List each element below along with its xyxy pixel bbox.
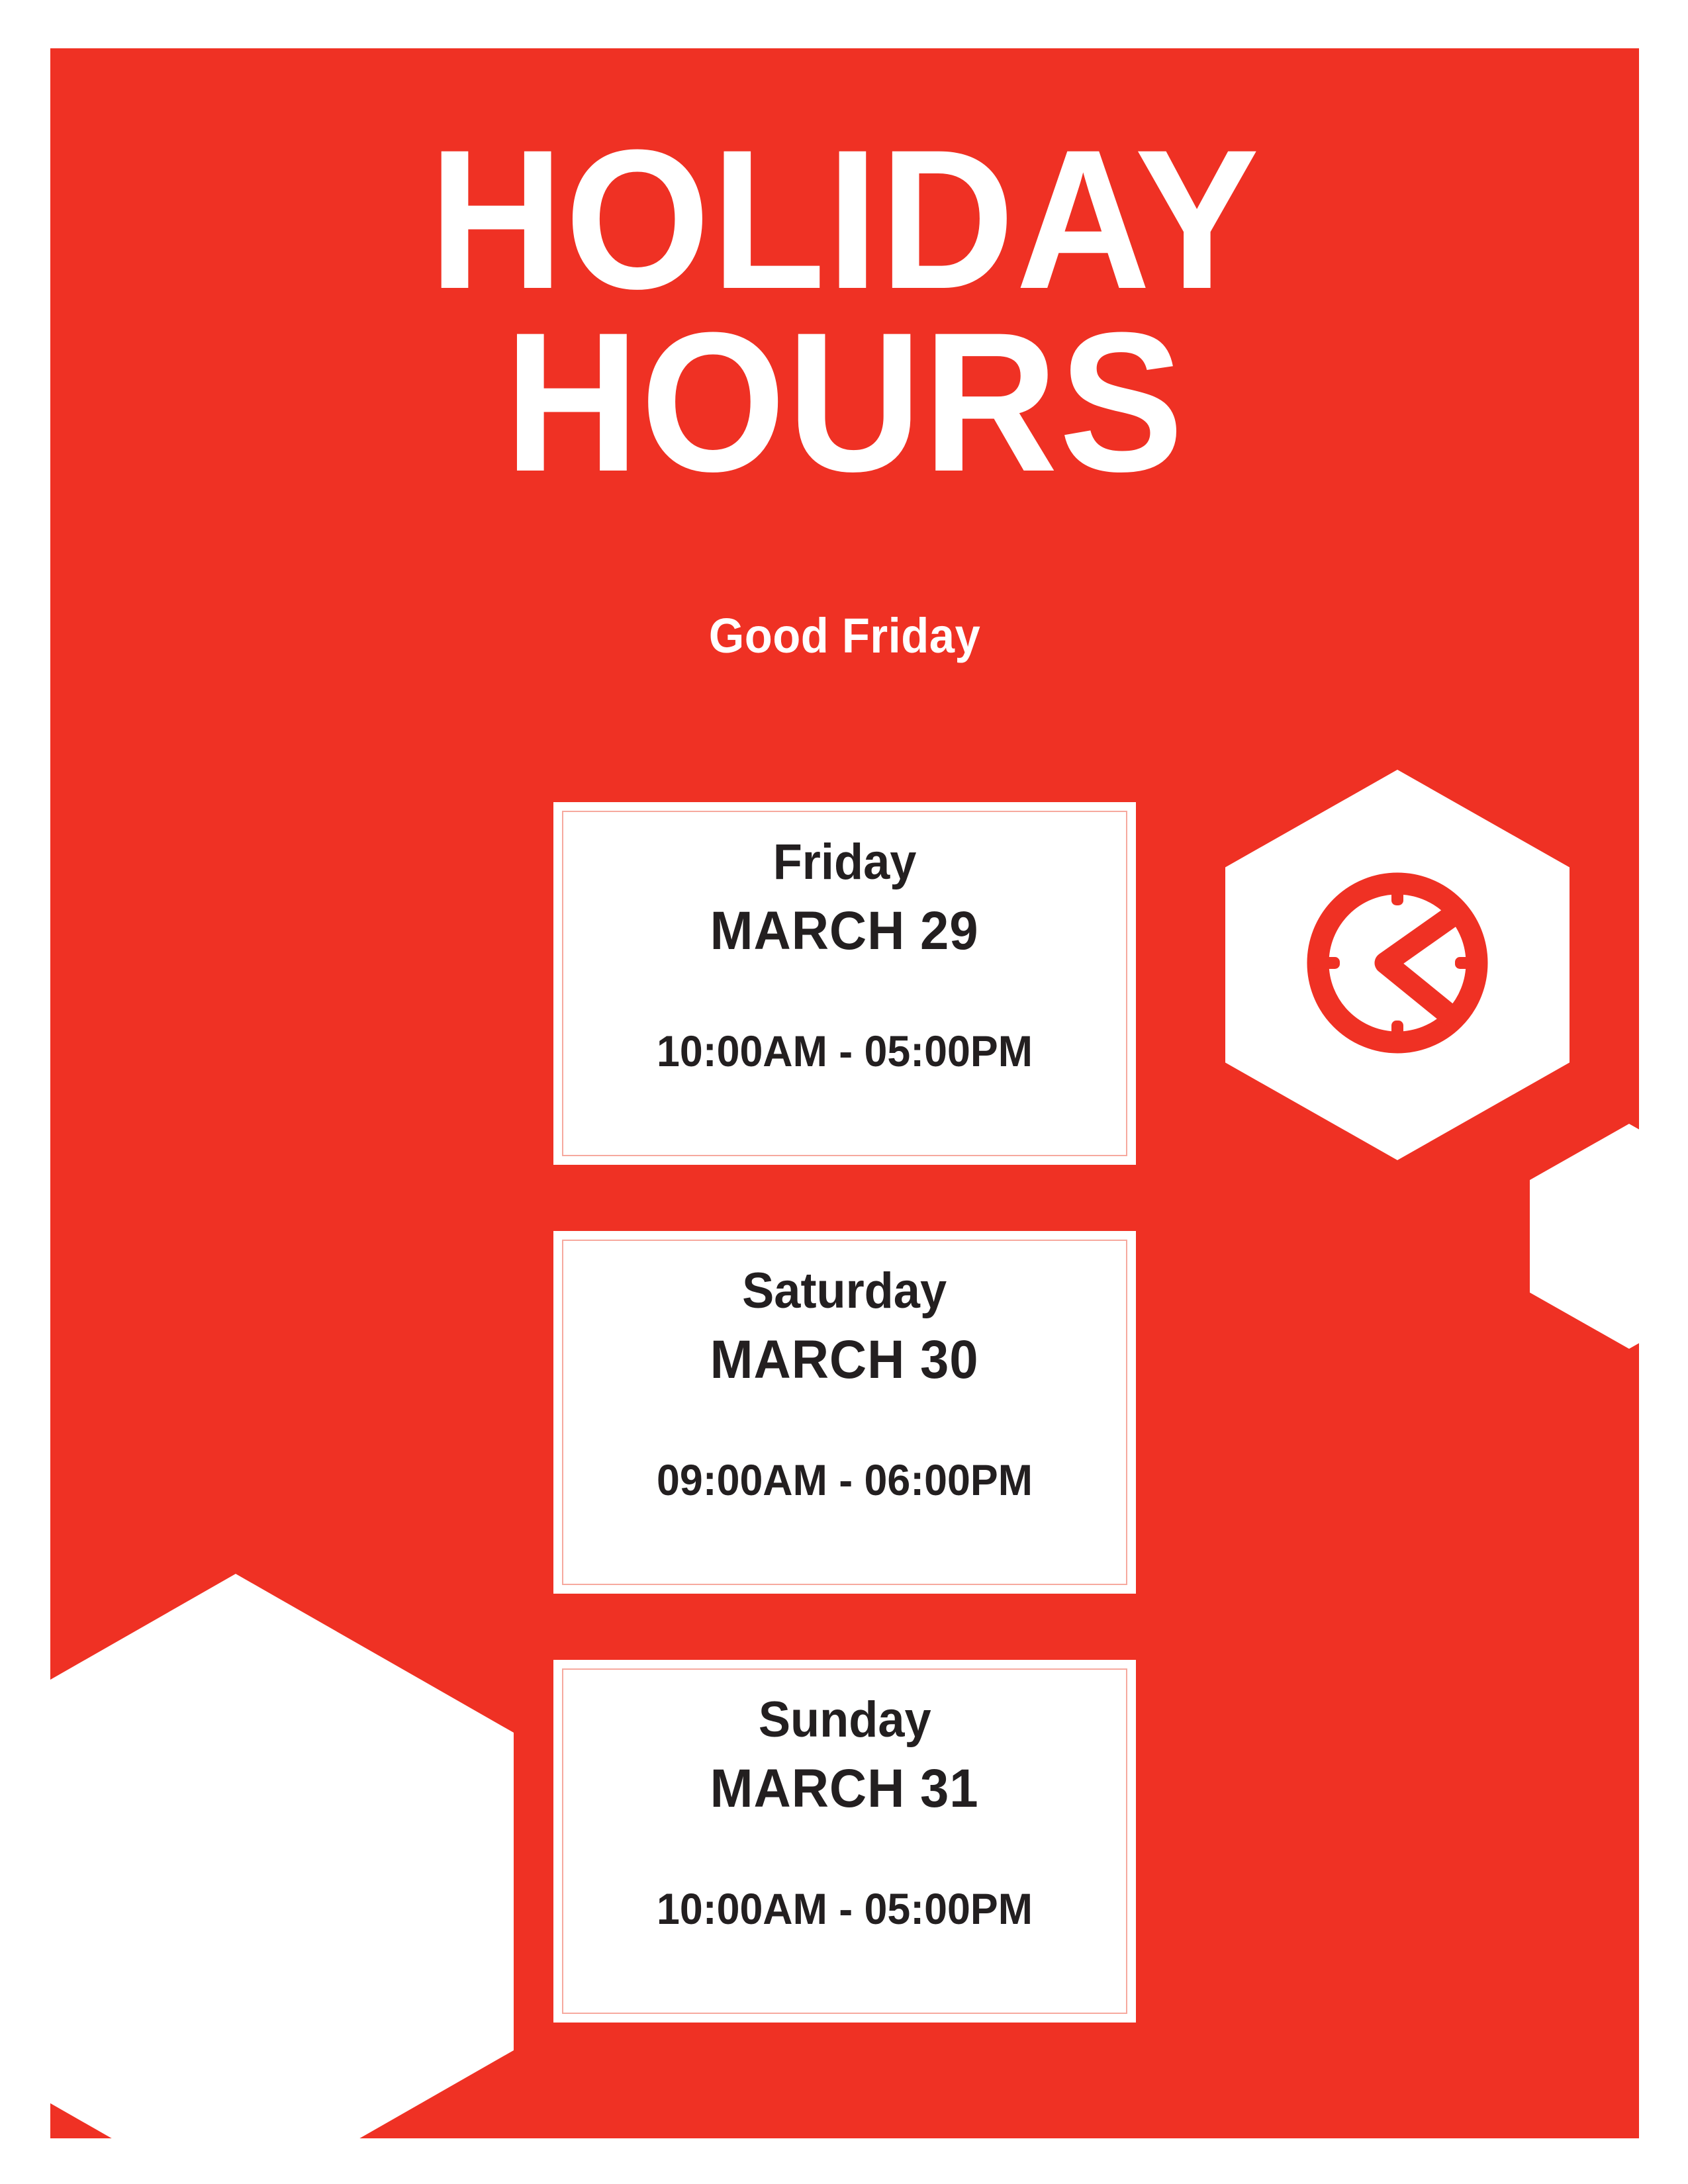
card-day-name: Friday bbox=[773, 835, 917, 889]
schedule-list: Friday MARCH 29 10:00AM - 05:00PM Saturd… bbox=[553, 802, 1136, 2023]
card-date: MARCH 29 bbox=[710, 901, 979, 961]
card-hours: 09:00AM - 06:00PM bbox=[657, 1456, 1033, 1504]
page-title: HOLIDAY HOURS bbox=[50, 128, 1639, 493]
clock-icon bbox=[1298, 864, 1497, 1062]
holiday-hours-poster: HOLIDAY HOURS Good Friday Friday bbox=[0, 0, 1688, 2184]
card-day-name: Saturday bbox=[743, 1264, 947, 1318]
card-date: MARCH 31 bbox=[710, 1759, 979, 1819]
schedule-card-saturday[interactable]: Saturday MARCH 30 09:00AM - 06:00PM bbox=[553, 1231, 1136, 1594]
hexagon-decoration bbox=[50, 1574, 514, 2138]
card-day-name: Sunday bbox=[759, 1693, 931, 1747]
card-hours: 10:00AM - 05:00PM bbox=[657, 1885, 1033, 1933]
poster-subtitle: Good Friday bbox=[106, 608, 1583, 664]
card-date: MARCH 30 bbox=[710, 1330, 979, 1390]
poster-red-panel: HOLIDAY HOURS Good Friday Friday bbox=[50, 48, 1639, 2138]
card-content: Saturday MARCH 30 09:00AM - 06:00PM bbox=[553, 1231, 1136, 1594]
card-hours: 10:00AM - 05:00PM bbox=[657, 1027, 1033, 1075]
card-content: Sunday MARCH 31 10:00AM - 05:00PM bbox=[553, 1660, 1136, 2023]
schedule-card-sunday[interactable]: Sunday MARCH 31 10:00AM - 05:00PM bbox=[553, 1660, 1136, 2023]
hexagon-accent bbox=[1530, 1124, 1639, 1349]
title-line-holiday: HOLIDAY bbox=[98, 128, 1591, 310]
schedule-card-friday[interactable]: Friday MARCH 29 10:00AM - 05:00PM bbox=[553, 802, 1136, 1165]
title-line-hours: HOURS bbox=[98, 310, 1591, 493]
card-content: Friday MARCH 29 10:00AM - 05:00PM bbox=[553, 802, 1136, 1165]
